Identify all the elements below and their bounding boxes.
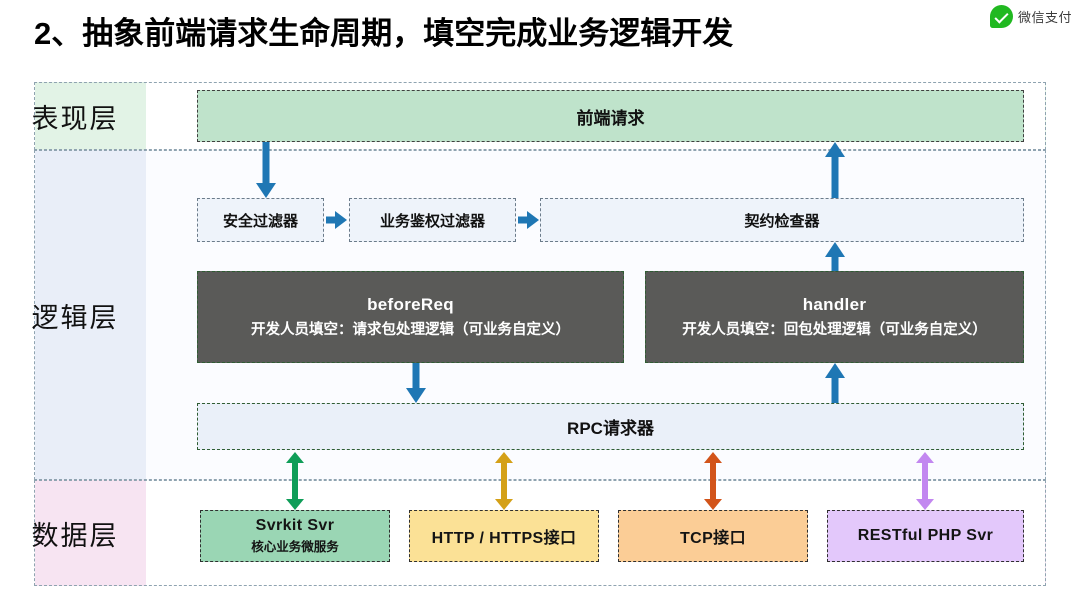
node-frontend-request[interactable]: 前端请求 (197, 90, 1024, 142)
arrow-contract-to-frontend (825, 142, 845, 198)
wechat-pay-check-icon (990, 5, 1013, 28)
node-handler[interactable]: handler 开发人员填空：回包处理逻辑（可业务自定义） (645, 271, 1024, 363)
node-rpc-requester[interactable]: RPC请求器 (197, 403, 1024, 450)
node-contract-checker[interactable]: 契约检查器 (540, 198, 1024, 242)
node-handler-title: handler (803, 295, 867, 315)
brand-logo: 微信支付 (990, 5, 1072, 28)
page-title-prefix: 2、抽象前端请求生命周期， (34, 16, 423, 51)
page-title: 2、抽象前端请求生命周期，填空完成业务逻辑开发 (34, 8, 733, 53)
node-security-filter[interactable]: 安全过滤器 (197, 198, 324, 242)
page-title-emphasis: 填空完成业务逻辑开发 (423, 16, 733, 51)
node-svrkit-svr-subtitle: 核心业务微服务 (251, 536, 339, 555)
node-http-api[interactable]: HTTP / HTTPS接口 (409, 510, 599, 562)
node-tcp-api[interactable]: TCP接口 (618, 510, 808, 562)
node-http-api-title: HTTP / HTTPS接口 (432, 524, 577, 548)
node-auth-filter[interactable]: 业务鉴权过滤器 (349, 198, 516, 242)
node-php-svr[interactable]: RESTful PHP Svr (827, 510, 1024, 562)
layer-label-data: 数据层 (0, 480, 150, 586)
node-before-req-subtitle: 开发人员填空：请求包处理逻辑（可业务自定义） (251, 318, 570, 339)
node-before-req[interactable]: beforeReq 开发人员填空：请求包处理逻辑（可业务自定义） (197, 271, 624, 363)
node-security-filter-label: 安全过滤器 (223, 210, 298, 231)
arrow-rpc-to-http (495, 452, 513, 510)
node-contract-checker-label: 契约检查器 (744, 210, 819, 231)
node-tcp-api-title: TCP接口 (680, 524, 746, 548)
arrow-rpc-to-php (916, 452, 934, 510)
brand-name: 微信支付 (1018, 7, 1072, 26)
arrow-frontend-to-security-filter (256, 142, 276, 198)
node-rpc-requester-label: RPC请求器 (567, 414, 654, 439)
slide-canvas: 2、抽象前端请求生命周期，填空完成业务逻辑开发 微信支付 表现层 逻辑层 数据层… (0, 0, 1080, 608)
arrow-rpc-to-svrkit (286, 452, 304, 510)
node-handler-subtitle: 开发人员填空：回包处理逻辑（可业务自定义） (682, 318, 987, 339)
node-svrkit-svr[interactable]: Svrkit Svr 核心业务微服务 (200, 510, 390, 562)
arrow-rpc-to-tcp (704, 452, 722, 510)
arrow-auth-filter-to-contract (518, 211, 539, 229)
node-svrkit-svr-title: Svrkit Svr (256, 517, 335, 535)
arrow-handler-to-contract (825, 242, 845, 271)
node-php-svr-title: RESTful PHP Svr (858, 527, 994, 545)
layer-label-logic: 逻辑层 (0, 150, 150, 480)
layer-label-presentation: 表现层 (0, 82, 150, 150)
node-frontend-request-label: 前端请求 (577, 104, 645, 129)
arrow-rpc-to-handler (825, 363, 845, 403)
node-auth-filter-label: 业务鉴权过滤器 (380, 210, 485, 231)
arrow-before-req-to-rpc (406, 363, 426, 403)
arrow-security-to-auth-filter (326, 211, 347, 229)
node-before-req-title: beforeReq (367, 295, 454, 315)
